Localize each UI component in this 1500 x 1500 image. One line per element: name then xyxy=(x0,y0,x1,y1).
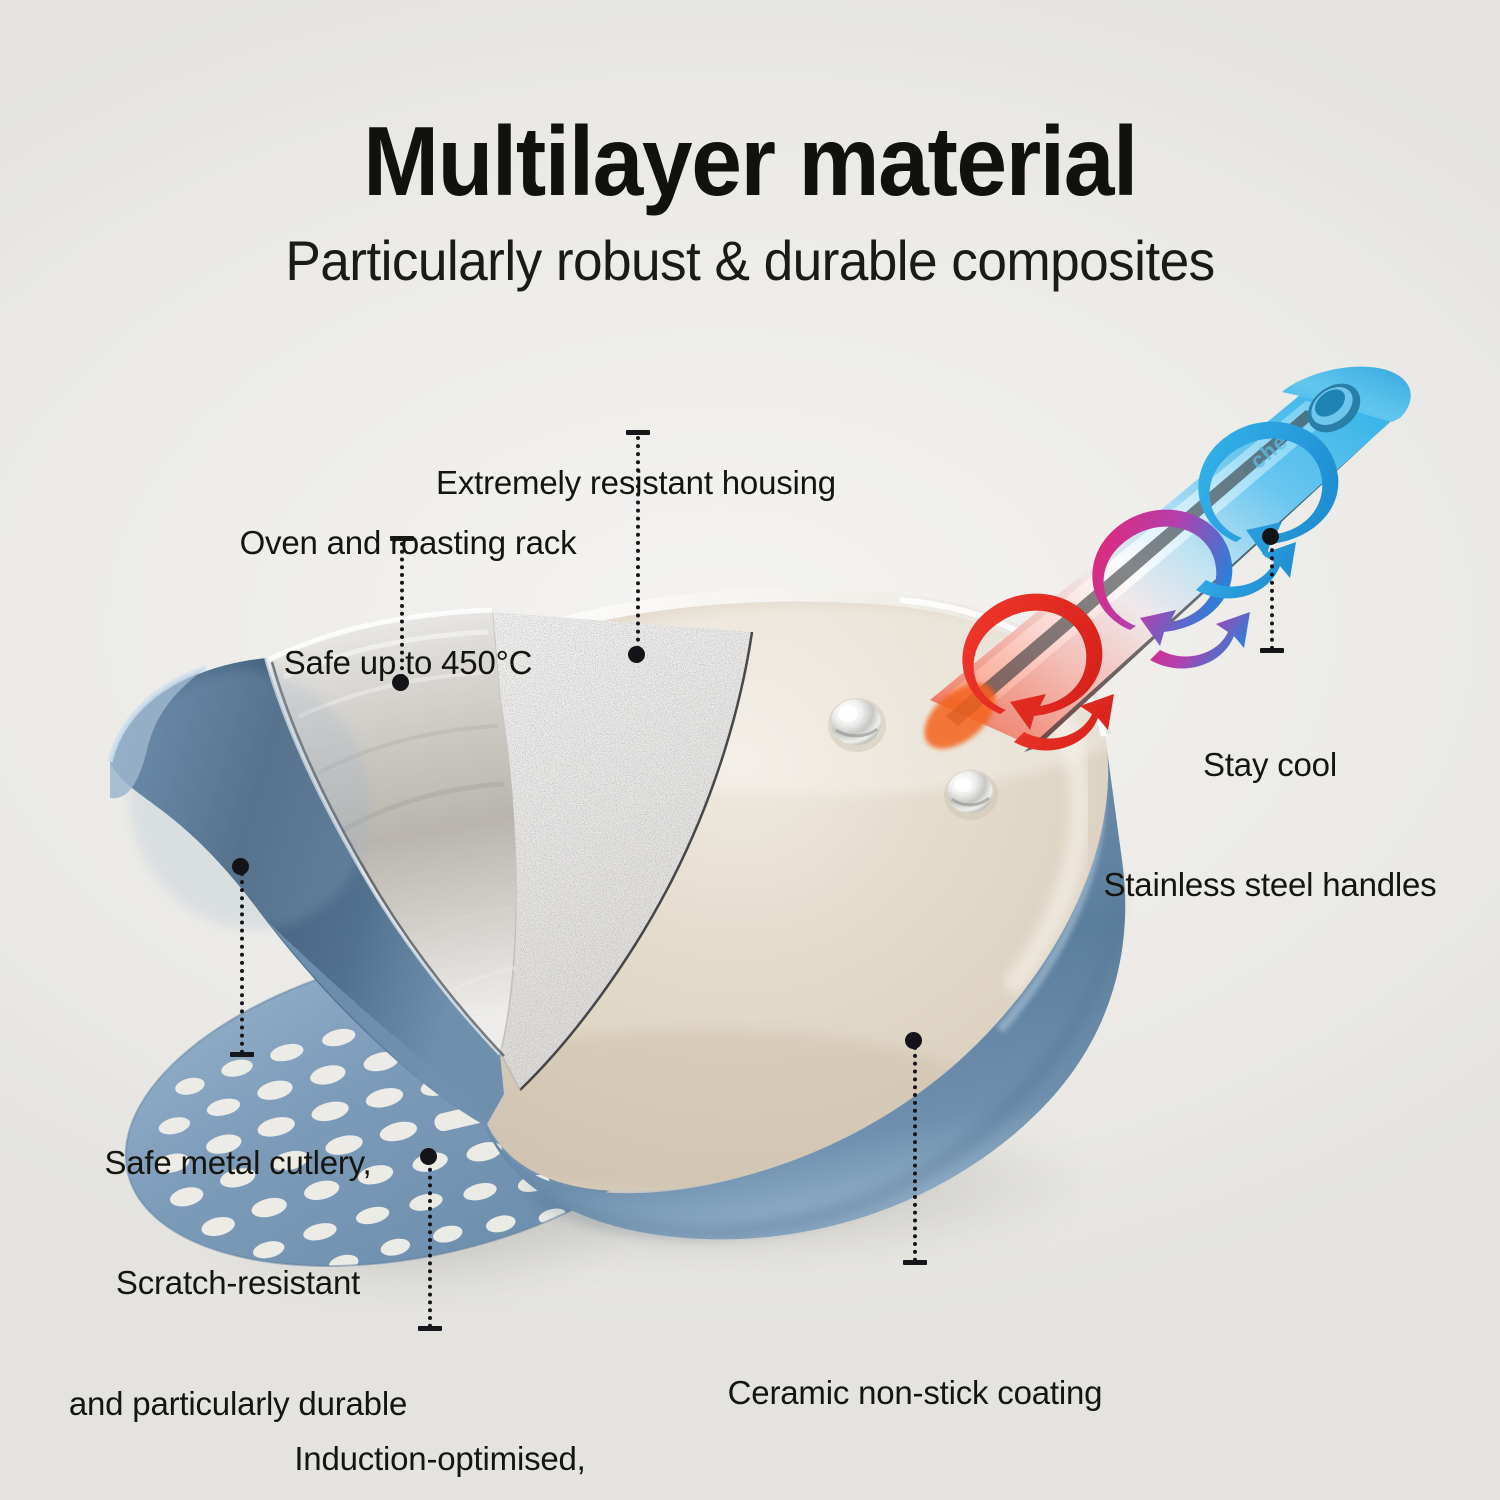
leader-tick-ceramic xyxy=(903,1260,927,1265)
callout-line: Safe metal cutlery, xyxy=(0,1143,488,1183)
callout-stay-cool-handles: Stay cool Stainless steel handles xyxy=(972,664,1500,986)
leader-line-handle xyxy=(1270,540,1274,650)
callout-line: Safe up to 450°C xyxy=(128,643,688,683)
callout-line: Oven and roasting rack xyxy=(128,523,688,563)
leader-tick-cutlery xyxy=(230,1052,254,1057)
rivet xyxy=(828,698,886,752)
callout-oven-and-roasting-rack: Oven and roasting rack Safe up to 450°C xyxy=(128,442,688,764)
leader-line-ceramic xyxy=(913,1046,917,1262)
callout-line: Free from pots & pans xyxy=(645,1493,1185,1500)
callout-line: Stay cool xyxy=(972,745,1500,785)
leader-line-cutlery xyxy=(240,872,244,1054)
callout-line: Scratch-resistant xyxy=(0,1263,488,1303)
leader-tick-handle xyxy=(1260,648,1284,653)
callout-induction-optimised: Induction-optimised, Cooking on all hob … xyxy=(180,1358,700,1500)
callout-ceramic-non-stick-coating: Ceramic non-stick coating Free from pots… xyxy=(645,1292,1185,1500)
callout-line: Stainless steel handles xyxy=(972,865,1500,905)
infographic-canvas: Multilayer material Particularly robust … xyxy=(0,0,1500,1500)
callout-line: Ceramic non-stick coating xyxy=(645,1373,1185,1413)
callout-line: Induction-optimised, xyxy=(180,1439,700,1479)
